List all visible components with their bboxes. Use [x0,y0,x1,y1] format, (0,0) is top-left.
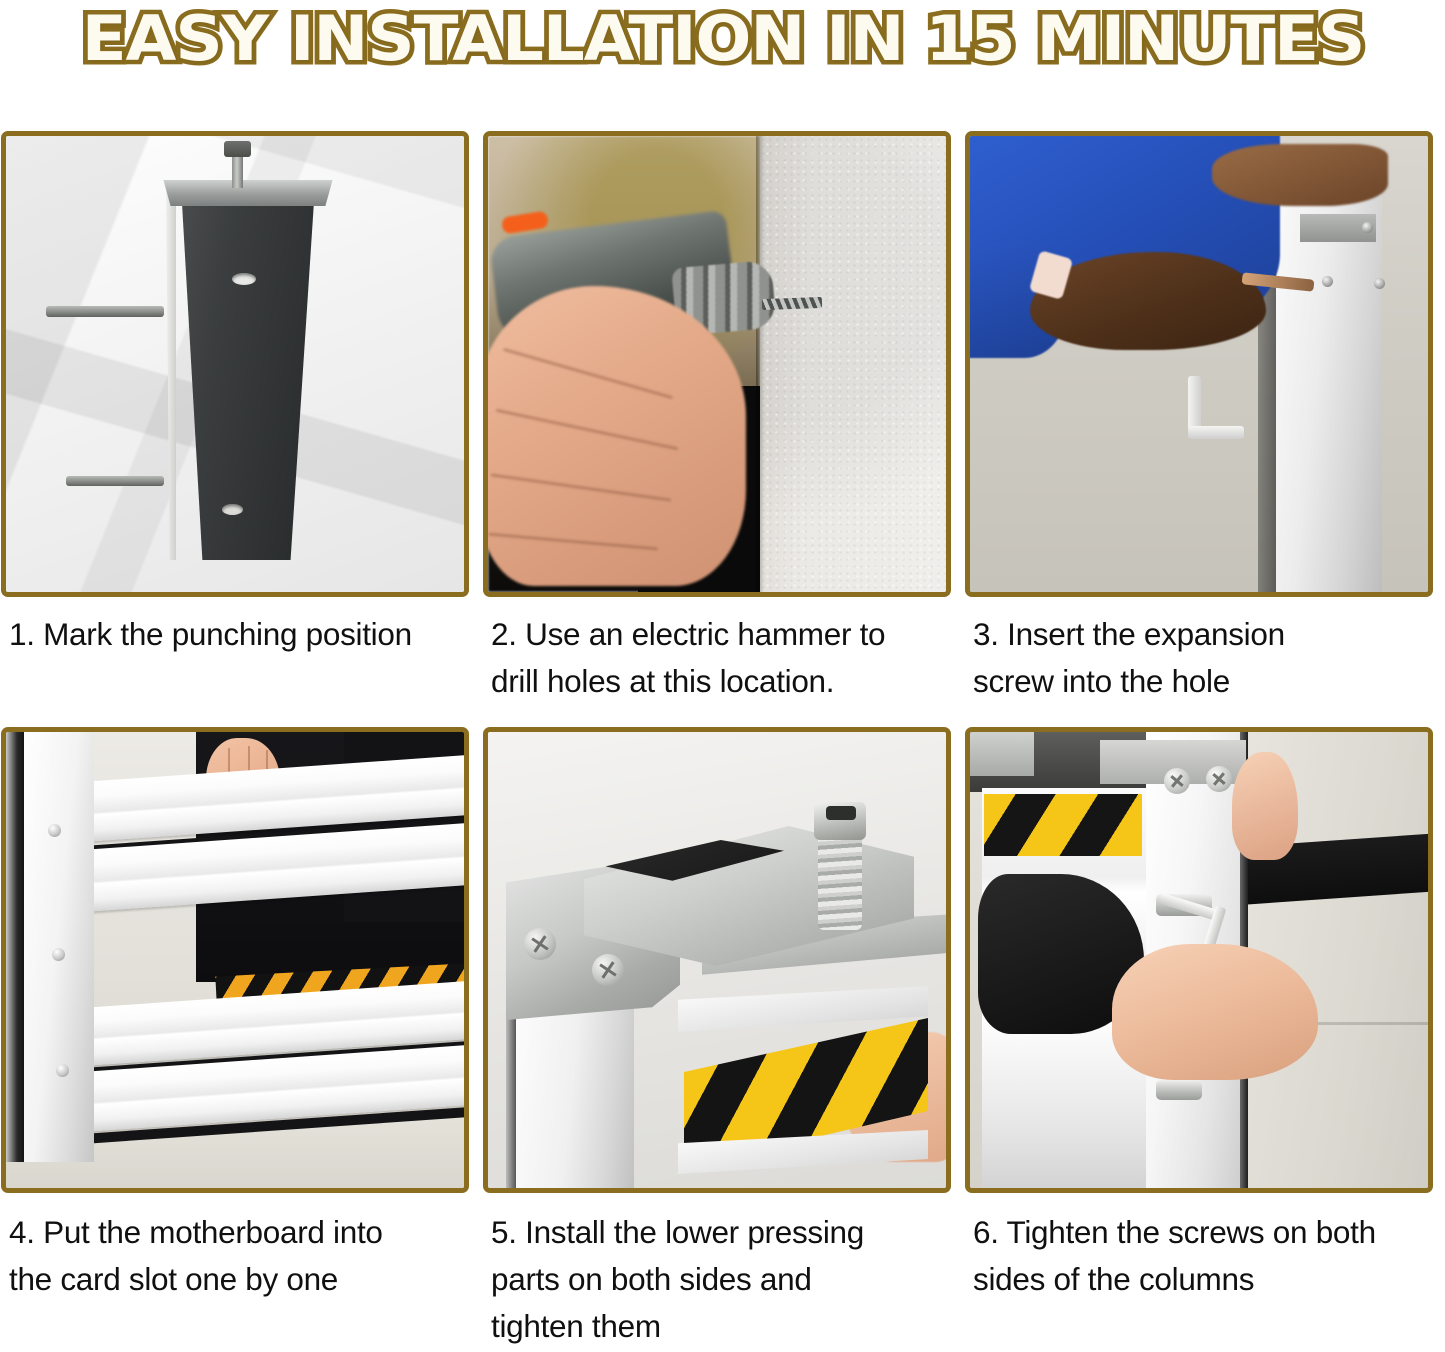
step-5-lower-pressing-parts-photo [488,732,946,1188]
step-card-1: 1. Mark the punching position [1,131,479,705]
steps-row-bottom: 4. Put the motherboard into the card slo… [0,727,1445,1350]
step-card-4: 4. Put the motherboard into the card slo… [1,727,479,1350]
step-1-mark-punching-position-photo [6,136,464,592]
hand [1112,944,1318,1080]
step-2-caption: 2. Use an electric hammer to drill holes… [491,611,957,705]
step-2-drill-holes-photo [488,136,946,592]
punch-hole-upper [232,273,256,285]
step-3-caption: 3. Insert the expansion screw into the h… [973,611,1439,705]
step-6-caption: 6. Tighten the screws on both sides of t… [973,1209,1439,1303]
step-card-3: 3. Insert the expansion screw into the h… [965,131,1443,705]
step-6-image-frame [965,727,1433,1193]
punch-hole-lower [222,504,243,515]
step-5-image-frame [483,727,951,1193]
drill-bit [762,297,822,310]
step-1-image-frame [1,131,469,597]
step-card-2: 2. Use an electric hammer to drill holes… [483,131,961,705]
hazard-stripe [984,794,1142,856]
step-3-image-frame [965,131,1433,597]
page-title: EASY INSTALLATION IN 15 MINUTES [81,2,1364,76]
step-3-insert-expansion-screw-photo [970,136,1428,592]
step-1-caption: 1. Mark the punching position [9,611,475,658]
step-5-caption: 5. Install the lower pressing parts on b… [491,1209,957,1350]
step-2-image-frame [483,131,951,597]
header-banner: EASY INSTALLATION IN 15 MINUTES [0,0,1445,100]
steps-row-top: 1. Mark the punching position 2. Use an … [0,131,1445,705]
step-6-tighten-screws-photo [970,732,1428,1188]
step-card-6: 6. Tighten the screws on both sides of t… [965,727,1443,1350]
step-4-caption: 4. Put the motherboard into the card slo… [9,1209,475,1303]
step-4-install-boards-photo [6,732,464,1188]
step-card-5: 5. Install the lower pressing parts on b… [483,727,961,1350]
step-4-image-frame [1,727,469,1193]
